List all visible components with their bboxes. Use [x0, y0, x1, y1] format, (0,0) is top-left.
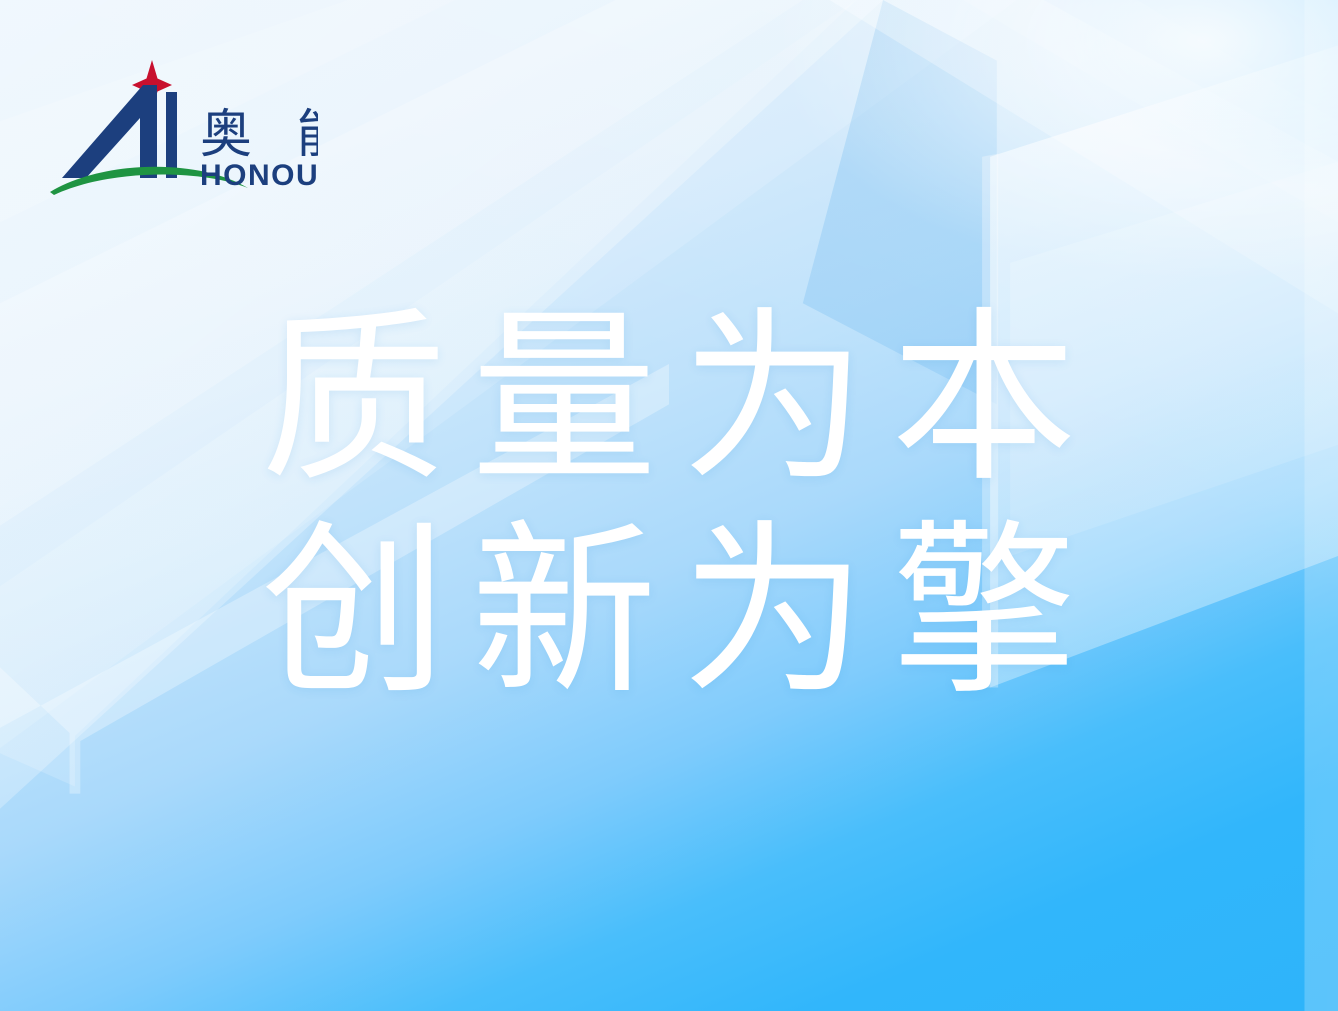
logo-latin-name: HONOUR: [200, 159, 318, 192]
logo-chinese-name: 奥 能: [200, 105, 318, 165]
company-logo: 奥 能 HONOUR: [48, 52, 318, 197]
headline-block: 质量为本 创新为擎: [0, 300, 1338, 710]
poster-root: 奥 能 HONOUR 质量为本 创新为擎: [0, 0, 1338, 1011]
headline-line-1: 质量为本: [0, 300, 1338, 497]
logo-bar-icon: [166, 92, 177, 178]
logo-a-mark-icon: [62, 85, 157, 178]
headline-line-2: 创新为擎: [0, 513, 1338, 710]
